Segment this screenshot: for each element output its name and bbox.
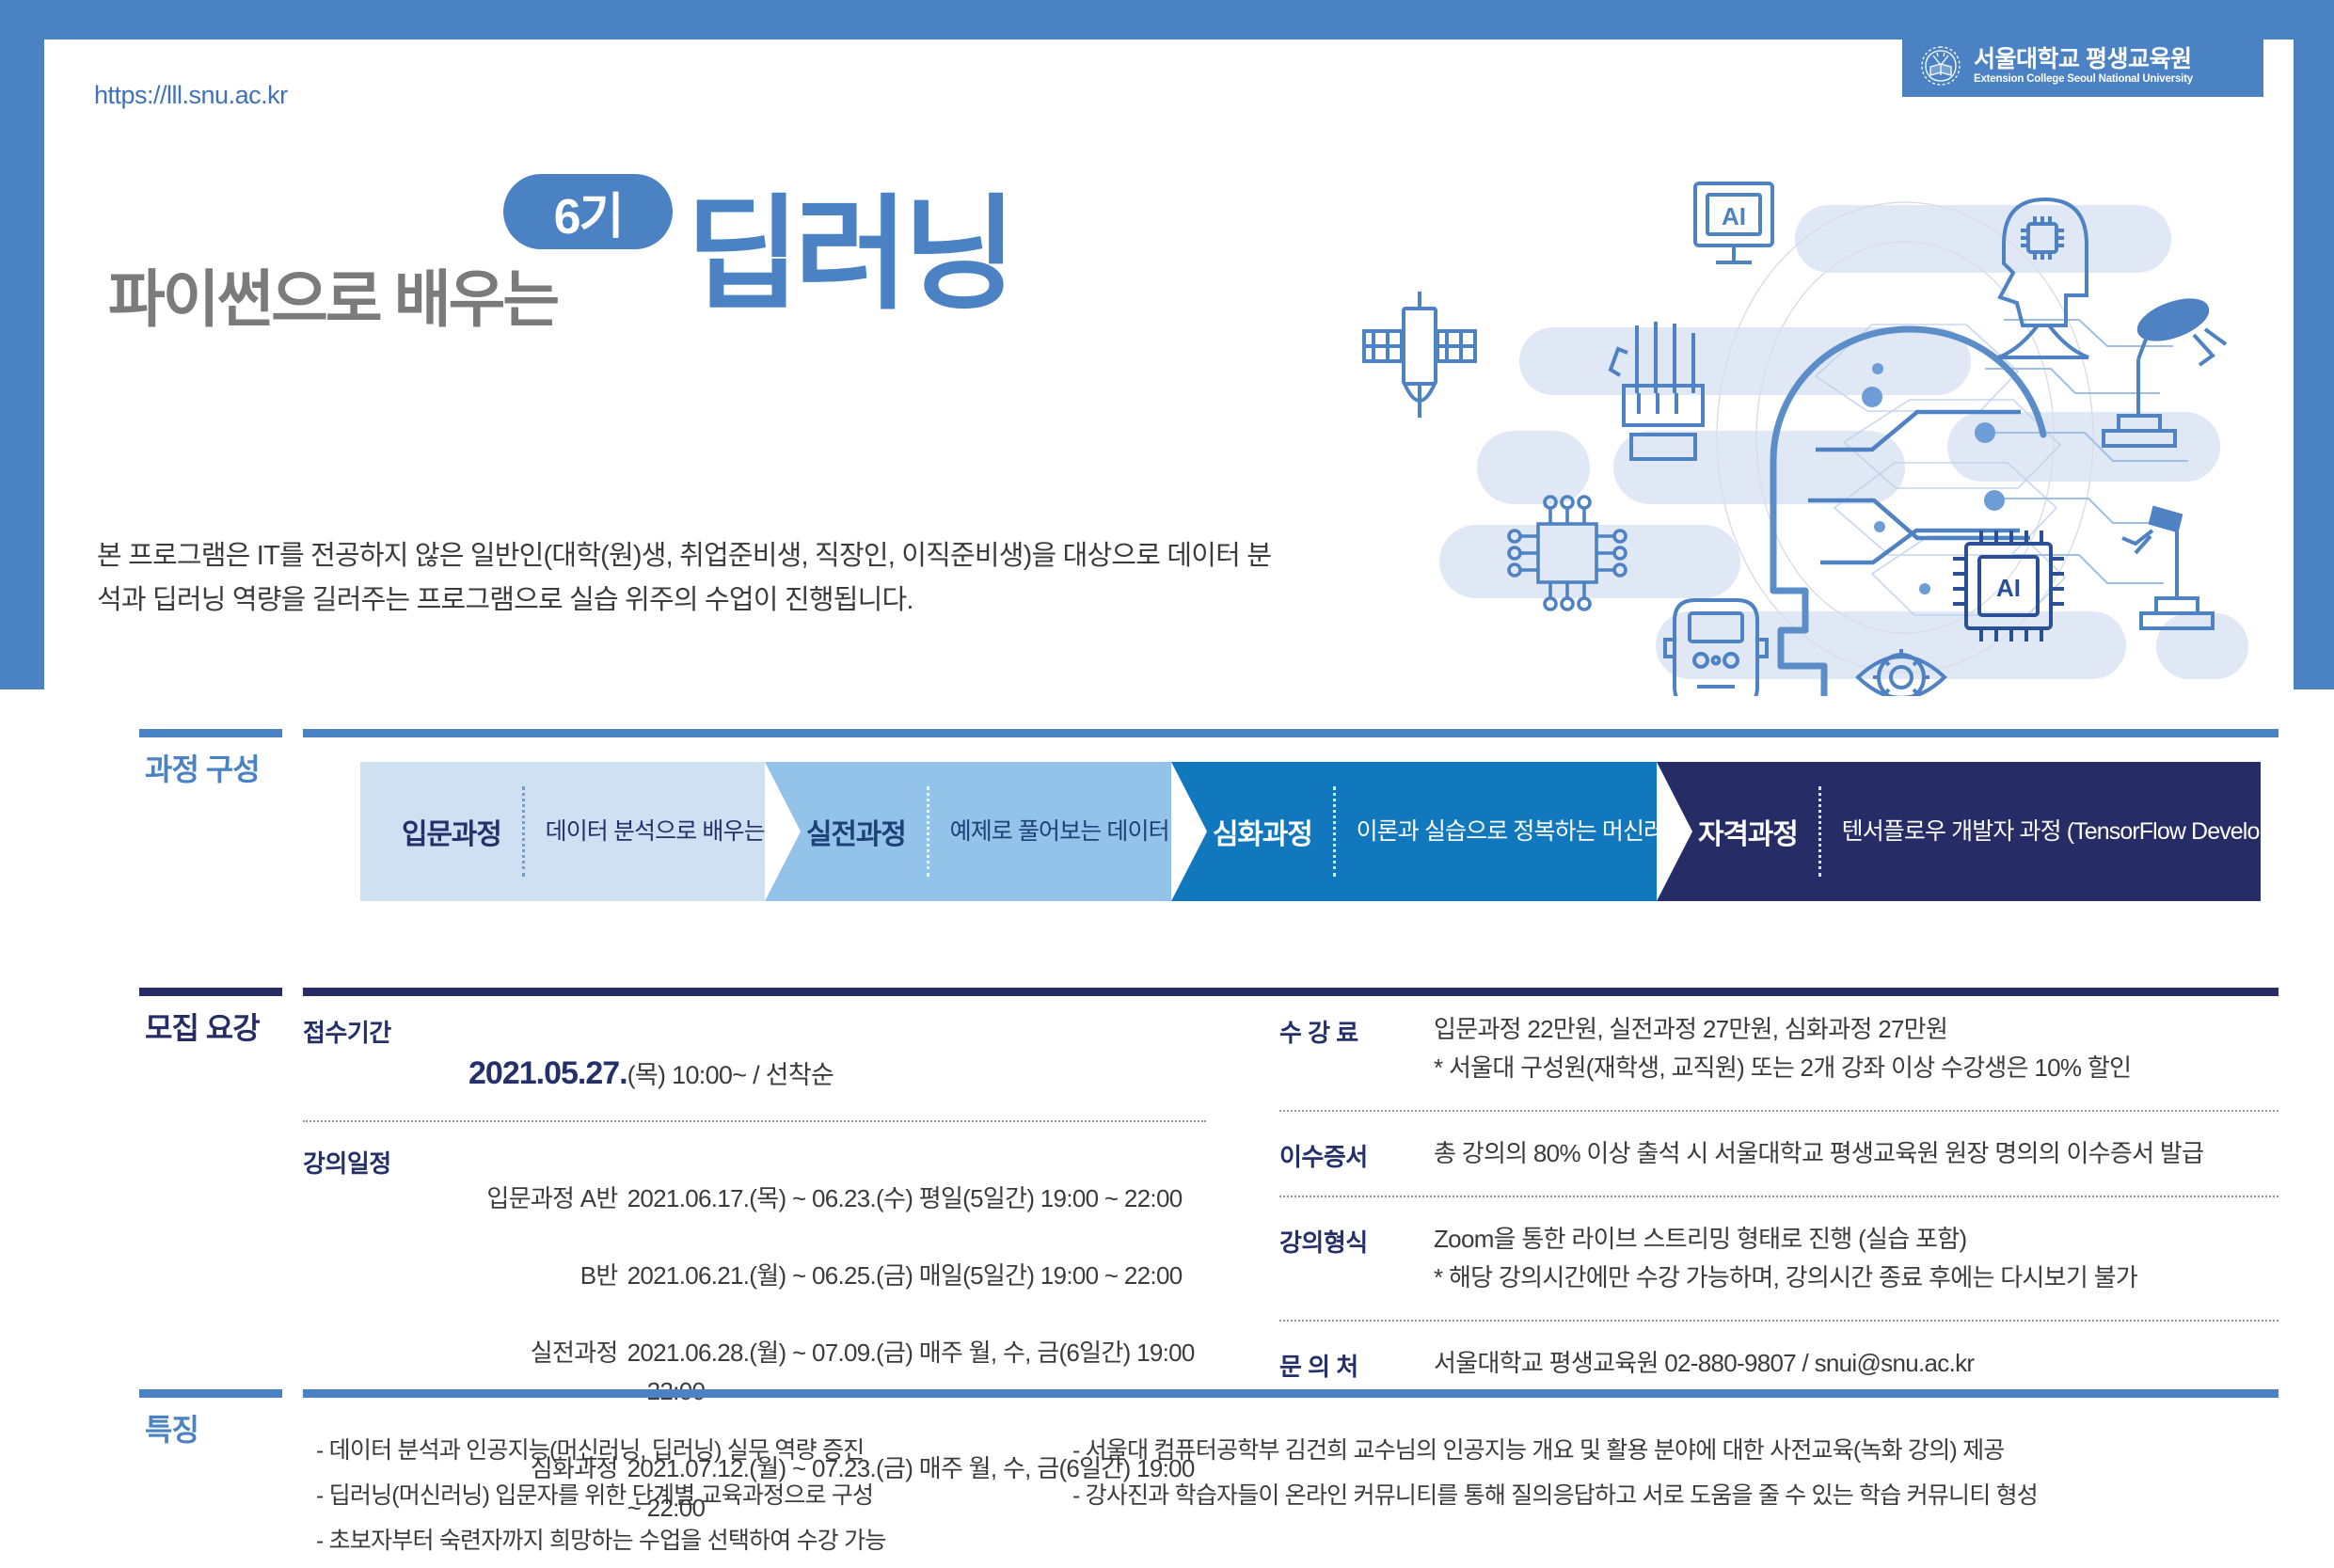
row-tuition: 수 강 료 입문과정 22만원, 실전과정 27만원, 심화과정 27만원 * … — [1279, 1010, 2278, 1087]
schedule-item-course: 실전과정 — [456, 1334, 627, 1411]
ai-illustration: AI — [1345, 150, 2277, 696]
features-tab-bar — [139, 1389, 282, 1398]
schedule-item-course: B반 — [456, 1257, 627, 1295]
curriculum-rule — [303, 729, 2278, 737]
snu-logo: 서울대학교 평생교육원 Extension College Seoul Nati… — [1902, 35, 2263, 97]
schedule-item-detail: 2021.06.17.(목) ~ 06.23.(수) 평일(5일간) 19:00… — [627, 1180, 1183, 1218]
pipeline-step-3-divider — [1333, 786, 1336, 877]
row-application-period: 접수기간 2021.05.27.(목) 10:00~ / 선착순 — [303, 1010, 1206, 1100]
row-contact-value[interactable]: 서울대학교 평생교육원 02-880-9807 / snui@snu.ac.kr — [1434, 1344, 1974, 1383]
pipeline-step-1-divider — [522, 786, 525, 877]
features-section-title: 특징 — [145, 1406, 198, 1449]
title-subtitle: 파이썬으로 배우는 — [108, 268, 557, 330]
divider-right-3 — [1279, 1320, 2278, 1322]
pipeline-step-1: 입문과정 데이터 분석으로 배우는 파이썬 — [360, 762, 765, 901]
feature-item: - 강사진과 학습자들이 온라인 커뮤니티를 통해 질의응답하고 서로 도움을 … — [1072, 1473, 2286, 1518]
top-accent-bar — [0, 0, 2334, 40]
row-certificate: 이수증서 총 강의의 80% 이상 출석 시 서울대학교 평생교육원 원장 명의… — [1279, 1134, 2278, 1173]
row-format: 강의형식 Zoom을 통한 라이브 스트리밍 형태로 진행 (실습 포함) * … — [1279, 1220, 2278, 1297]
pipeline-notch-3-icon — [1171, 762, 1207, 901]
row-tuition-value: 입문과정 22만원, 실전과정 27만원, 심화과정 27만원 * 서울대 구성… — [1434, 1010, 2131, 1087]
schedule-item-course: 입문과정 A반 — [456, 1180, 627, 1218]
features-left-list: - 데이터 분석과 인공지능(머신러닝, 딥러닝) 실무 역량 증진 - 딥러닝… — [316, 1428, 1069, 1563]
row-certificate-value: 총 강의의 80% 이상 출석 시 서울대학교 평생교육원 원장 명의의 이수증… — [1434, 1134, 2203, 1173]
snu-emblem-icon — [1919, 44, 1962, 87]
pipeline-step-3-name: 심화과정 — [1213, 811, 1312, 852]
application-period-detail: (목) 10:00~ / 선착순 — [627, 1061, 834, 1089]
feature-item: - 초보자부터 숙련자까지 희망하는 수업을 선택하여 수강 가능 — [316, 1518, 1069, 1563]
pipeline-notch-2-icon — [765, 762, 801, 901]
features-right-list: - 서울대 컴퓨터공학부 김건희 교수님의 인공지능 개요 및 활용 분야에 대… — [1072, 1428, 2286, 1518]
poster-root: https://lll.snu.ac.kr 서울대학교 평생교육원 Extens… — [0, 0, 2334, 1568]
application-period-date: 2021.05.27. — [468, 1055, 627, 1091]
row-format-value: Zoom을 통한 라이브 스트리밍 형태로 진행 (실습 포함) * 해당 강의… — [1434, 1220, 2137, 1297]
schedule-item-detail: 2021.06.28.(월) ~ 07.09.(금) 매주 월, 수, 금(6일… — [627, 1334, 1206, 1411]
features-rule — [303, 1389, 2278, 1398]
logo-korean-name: 서울대학교 평생교육원 — [1974, 47, 2193, 71]
pipeline-step-4-name: 자격과정 — [1698, 811, 1798, 852]
pipeline-step-4-divider — [1818, 786, 1821, 877]
logo-english-name: Extension College Seoul National Univers… — [1974, 73, 2193, 85]
program-intro-text: 본 프로그램은 IT를 전공하지 않은 일반인(대학(원)생, 취업준비생, 직… — [97, 534, 1273, 623]
pipeline-notch-4-icon — [1657, 762, 1692, 901]
row-schedule-label: 강의일정 — [303, 1141, 434, 1180]
pipeline-step-2-divider — [927, 786, 929, 877]
row-tuition-label: 수 강 료 — [1279, 1010, 1411, 1049]
title-main: 딥러닝 — [686, 202, 1011, 308]
site-url[interactable]: https://lll.snu.ac.kr — [94, 81, 288, 110]
cohort-badge: 6기 — [503, 174, 673, 249]
pipeline-step-2-name: 실전과정 — [806, 811, 906, 852]
svg-text:AI: AI — [1996, 574, 2021, 602]
schedule-item: B반 2021.06.21.(월) ~ 06.25.(금) 매일(5일간) 19… — [456, 1257, 1206, 1295]
pipeline-step-2: 실전과정 예제로 풀어보는 데이터 분석 — [765, 762, 1171, 901]
feature-item: - 서울대 컴퓨터공학부 김건희 교수님의 인공지능 개요 및 활용 분야에 대… — [1072, 1428, 2286, 1473]
pipeline-step-3: 심화과정 이론과 실습으로 정복하는 머신러닝 / 딥러닝 기초 — [1171, 762, 1657, 901]
schedule-item-detail: 2021.06.21.(월) ~ 06.25.(금) 매일(5일간) 19:00… — [627, 1257, 1183, 1295]
right-accent-bar — [2294, 0, 2334, 689]
feature-item: - 딥러닝(머신러닝) 입문자를 위한 단계별 교육과정으로 구성 — [316, 1473, 1069, 1518]
recruitment-rule — [303, 988, 2278, 996]
curriculum-pipeline: 입문과정 데이터 분석으로 배우는 파이썬 실전과정 예제로 풀어보는 데이터 … — [360, 762, 2261, 901]
pipeline-step-4: 자격과정 텐서플로우 개발자 과정 (TensorFlow Developers… — [1657, 762, 2261, 901]
row-contact-label: 문 의 처 — [1279, 1344, 1411, 1383]
divider-left-1 — [303, 1120, 1206, 1122]
curriculum-tab-bar — [139, 729, 282, 737]
row-contact: 문 의 처 서울대학교 평생교육원 02-880-9807 / snui@snu… — [1279, 1344, 2278, 1383]
pipeline-step-1-name: 입문과정 — [402, 811, 501, 852]
svg-text:AI: AI — [1722, 202, 1746, 230]
schedule-item: 입문과정 A반 2021.06.17.(목) ~ 06.23.(수) 평일(5일… — [456, 1180, 1206, 1218]
curriculum-section-title: 과정 구성 — [145, 746, 260, 789]
pipeline-step-4-desc: 텐서플로우 개발자 과정 (TensorFlow Developers Cert… — [1842, 815, 2334, 848]
divider-right-2 — [1279, 1196, 2278, 1197]
recruitment-section-title: 모집 요강 — [145, 1005, 260, 1048]
recruitment-tab-bar — [139, 988, 282, 996]
feature-item: - 데이터 분석과 인공지능(머신러닝, 딥러닝) 실무 역량 증진 — [316, 1428, 1069, 1473]
recruitment-right-column: 수 강 료 입문과정 22만원, 실전과정 27만원, 심화과정 27만원 * … — [1279, 1006, 2278, 1383]
left-accent-bar — [0, 0, 44, 689]
divider-right-1 — [1279, 1110, 2278, 1112]
row-format-label: 강의형식 — [1279, 1220, 1411, 1259]
schedule-item: 실전과정 2021.06.28.(월) ~ 07.09.(금) 매주 월, 수,… — [456, 1334, 1206, 1411]
row-application-period-label: 접수기간 — [303, 1010, 446, 1049]
row-certificate-label: 이수증서 — [1279, 1134, 1411, 1173]
